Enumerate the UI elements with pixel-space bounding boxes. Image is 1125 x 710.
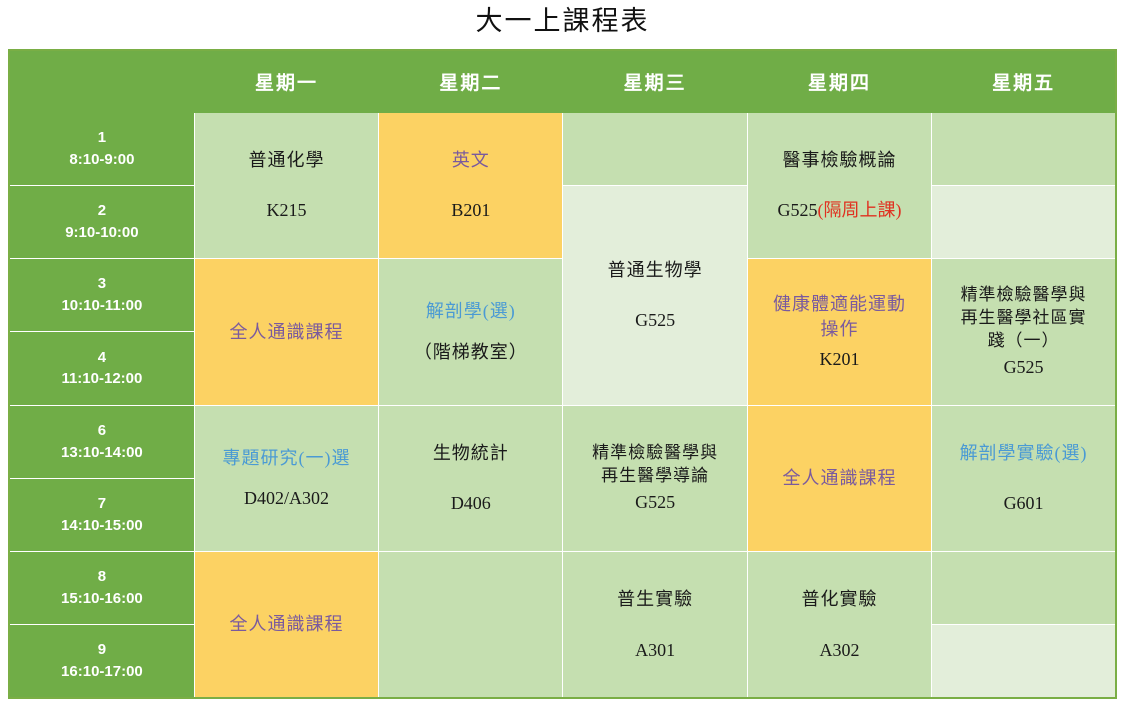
period-number: 7	[10, 493, 194, 515]
course-name: 解剖學實驗(選)	[960, 441, 1088, 465]
period-number: 1	[10, 127, 194, 149]
table-header: 星期一 星期二 星期三 星期四 星期五	[9, 50, 1116, 112]
cell-thu-p3-p4[interactable]: 健康體適能運動 操作 K201	[747, 259, 931, 406]
course-name: 生物統計	[433, 441, 509, 465]
course-room: D402/A302	[244, 486, 329, 510]
period-time: 9:10-10:00	[10, 222, 194, 244]
cell-fri-p2-empty[interactable]	[932, 185, 1116, 258]
table-row-period-3: 3 10:10-11:00 全人通識課程 解剖學(選) （階梯教室）	[9, 259, 1116, 332]
cell-fri-p1-empty[interactable]	[932, 112, 1116, 185]
course-room-main: G525	[777, 200, 817, 220]
period-number: 4	[10, 347, 194, 369]
course-name: 英文	[452, 148, 490, 172]
course-name-line-1: 精準檢驗醫學與	[961, 284, 1087, 307]
course-name: 全人通識課程	[782, 466, 896, 490]
course-name: 普生實驗	[617, 587, 693, 611]
cell-tue-p3-p4[interactable]: 解剖學(選) （階梯教室）	[379, 259, 563, 406]
course-room: （階梯教室）	[414, 340, 528, 364]
cell-thu-p1-p2[interactable]: 醫事檢驗概論 G525(隔周上課)	[747, 112, 931, 259]
header-friday: 星期五	[932, 50, 1116, 112]
period-number: 2	[10, 200, 194, 222]
time-cell-period-1: 1 8:10-9:00	[9, 112, 194, 185]
table-row-period-1: 1 8:10-9:00 普通化學 K215 英文 B201	[9, 112, 1116, 185]
table-row-period-6: 6 13:10-14:00 專題研究(一)選 D402/A302 生物統計 D4…	[9, 405, 1116, 478]
period-number: 8	[10, 566, 194, 588]
cell-fri-p3-p4[interactable]: 精準檢驗醫學與 再生醫學社區實 踐（一） G525	[932, 259, 1116, 406]
time-cell-period-8: 8 15:10-16:00	[9, 552, 194, 625]
cell-thu-p6-p7[interactable]: 全人通識課程	[747, 405, 931, 552]
time-cell-period-4: 4 11:10-12:00	[9, 332, 194, 405]
header-thursday: 星期四	[747, 50, 931, 112]
course-name: 全人通識課程	[229, 612, 343, 636]
cell-mon-p3-p4[interactable]: 全人通識課程	[194, 259, 378, 406]
period-time: 14:10-15:00	[10, 515, 194, 537]
table-row-period-8: 8 15:10-16:00 全人通識課程 普生實驗	[9, 552, 1116, 625]
header-monday: 星期一	[194, 50, 378, 112]
cell-thu-p8-p9[interactable]: 普化實驗 A302	[747, 552, 931, 699]
period-time: 13:10-14:00	[10, 442, 194, 464]
course-name-line-2: 再生醫學社區實	[961, 307, 1087, 330]
cell-mon-p8-p9[interactable]: 全人通識課程	[194, 552, 378, 699]
course-room: K215	[266, 198, 306, 222]
header-tuesday: 星期二	[379, 50, 563, 112]
cell-tue-p6-p7[interactable]: 生物統計 D406	[379, 405, 563, 552]
course-name: 醫事檢驗概論	[782, 148, 896, 172]
page-title: 大一上課程表	[0, 0, 1125, 35]
table-row-period-2: 2 9:10-10:00 普通生物學 G525	[9, 185, 1116, 258]
cell-mon-p6-p7[interactable]: 專題研究(一)選 D402/A302	[194, 405, 378, 552]
course-room: A302	[819, 638, 859, 662]
cell-wed-p8-p9[interactable]: 普生實驗 A301	[563, 552, 747, 699]
cell-fri-p6-p7[interactable]: 解剖學實驗(選) G601	[932, 405, 1116, 552]
cell-tue-p1-p2[interactable]: 英文 B201	[379, 112, 563, 259]
cell-mon-p1-p2[interactable]: 普通化學 K215	[194, 112, 378, 259]
time-cell-period-9: 9 16:10-17:00	[9, 625, 194, 698]
course-name-line-1: 健康體適能運動	[773, 292, 906, 316]
cell-wed-p2-p4[interactable]: 普通生物學 G525	[563, 185, 747, 405]
time-cell-period-2: 2 9:10-10:00	[9, 185, 194, 258]
cell-wed-p6-p7[interactable]: 精準檢驗醫學與 再生醫學導論 G525	[563, 405, 747, 552]
course-name-line-1: 精準檢驗醫學與	[592, 442, 718, 465]
period-number: 9	[10, 639, 194, 661]
cell-tue-p8-p9-empty[interactable]	[379, 552, 563, 699]
course-name-line-2: 再生醫學導論	[601, 465, 709, 488]
course-name: 普化實驗	[801, 587, 877, 611]
course-name: 解剖學(選)	[426, 299, 516, 323]
cell-fri-p8-empty[interactable]	[932, 552, 1116, 625]
course-name: 普通生物學	[608, 258, 703, 282]
time-cell-period-3: 3 10:10-11:00	[9, 259, 194, 332]
cell-wed-p1-empty[interactable]	[563, 112, 747, 185]
course-name: 普通化學	[248, 148, 324, 172]
course-room: B201	[451, 198, 490, 222]
course-room-note: (隔周上課)	[817, 200, 901, 220]
period-time: 15:10-16:00	[10, 588, 194, 610]
course-room: A301	[635, 638, 675, 662]
course-room: G525	[635, 490, 675, 514]
schedule-container: 星期一 星期二 星期三 星期四 星期五 1 8:10-9:00 普通化學 K21…	[0, 49, 1125, 699]
period-number: 6	[10, 420, 194, 442]
course-room: G525(隔周上課)	[777, 198, 901, 222]
course-room: G525	[1004, 355, 1044, 379]
period-time: 11:10-12:00	[10, 368, 194, 390]
cell-fri-p9-empty[interactable]	[932, 625, 1116, 698]
course-room: K201	[819, 347, 859, 371]
course-name: 全人通識課程	[229, 320, 343, 344]
course-schedule-table: 星期一 星期二 星期三 星期四 星期五 1 8:10-9:00 普通化學 K21…	[8, 49, 1117, 699]
period-number: 3	[10, 273, 194, 295]
course-name: 專題研究(一)選	[222, 446, 350, 470]
period-time: 10:10-11:00	[10, 295, 194, 317]
table-body: 1 8:10-9:00 普通化學 K215 英文 B201	[9, 112, 1116, 698]
course-room: G525	[635, 308, 675, 332]
header-corner-cell	[9, 50, 194, 112]
time-cell-period-7: 7 14:10-15:00	[9, 478, 194, 551]
period-time: 8:10-9:00	[10, 149, 194, 171]
header-row: 星期一 星期二 星期三 星期四 星期五	[9, 50, 1116, 112]
course-name-line-3: 踐（一）	[988, 330, 1060, 353]
course-room: G601	[1004, 491, 1044, 515]
course-name-line-2: 操作	[820, 317, 858, 341]
time-cell-period-6: 6 13:10-14:00	[9, 405, 194, 478]
course-room: D406	[451, 491, 491, 515]
header-wednesday: 星期三	[563, 50, 747, 112]
period-time: 16:10-17:00	[10, 661, 194, 683]
